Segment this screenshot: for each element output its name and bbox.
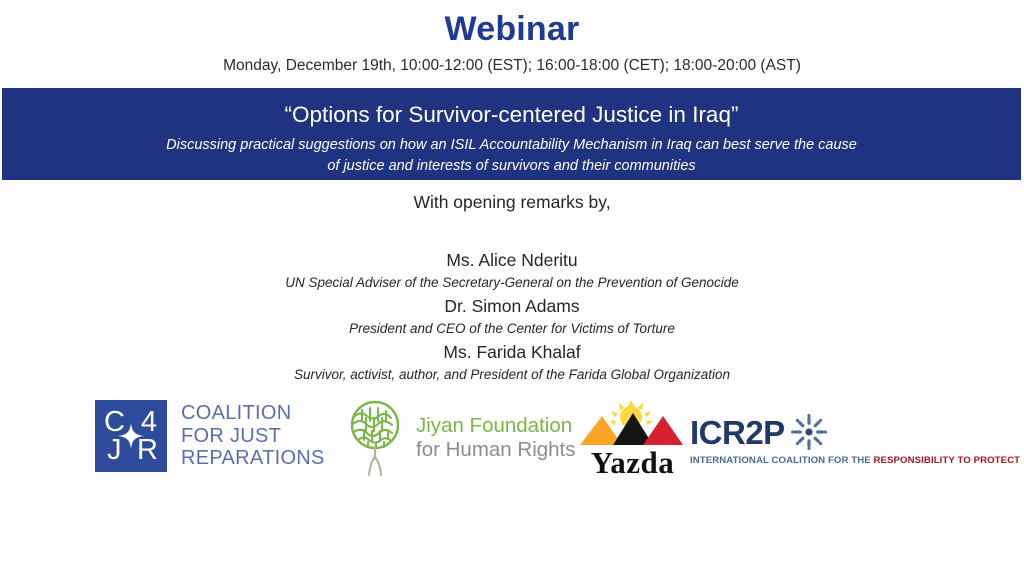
header: Webinar Monday, December 19th, 10:00-12:… — [0, 0, 1024, 76]
jiyan-wordmark-line-2: for Human Rights — [416, 438, 576, 462]
webinar-flyer: Webinar Monday, December 19th, 10:00-12:… — [0, 0, 1024, 576]
mountain-right — [643, 416, 683, 445]
page-title: Webinar — [0, 10, 1024, 49]
speaker-item: Dr. Simon Adams President and CEO of the… — [0, 295, 1024, 338]
speaker-item: Ms. Farida Khalaf Survivor, activist, au… — [0, 341, 1024, 384]
event-banner: “Options for Survivor-centered Justice i… — [2, 88, 1021, 180]
speaker-name: Dr. Simon Adams — [0, 295, 1024, 319]
opening-remarks-label: With opening remarks by, — [0, 192, 1024, 213]
c4jr-wordmark: COALITION FOR JUST REPARATIONS — [181, 402, 325, 469]
speaker-name: Ms. Alice Nderitu — [0, 249, 1024, 273]
speaker-role: Survivor, activist, author, and Presiden… — [0, 365, 1024, 385]
event-subtitle: Discussing practical suggestions on how … — [2, 135, 1021, 177]
event-title: “Options for Survivor-centered Justice i… — [2, 101, 1021, 129]
event-subtitle-line-1: Discussing practical suggestions on how … — [72, 135, 951, 156]
icr2p-wordmark: ICR2P — [690, 416, 785, 449]
logo-jiyan-foundation: Jiyan Foundation for Human Rights — [340, 398, 576, 478]
yazda-wordmark: Yazda — [575, 447, 690, 478]
jiyan-wordmark-line-1: Jiyan Foundation — [416, 414, 576, 438]
sun-and-mountains-icon — [575, 400, 687, 446]
mountain-left — [580, 416, 622, 445]
speaker-item: Ms. Alice Nderitu UN Special Adviser of … — [0, 249, 1024, 292]
four-pointed-star-icon — [118, 423, 144, 449]
logo-c4jr: C 4 J R COALITION FOR JUST REPARATIONS — [95, 400, 325, 472]
jiyan-wordmark: Jiyan Foundation for Human Rights — [416, 414, 576, 462]
webinar-datetime: Monday, December 19th, 10:00-12:00 (EST)… — [0, 57, 1024, 76]
speakers-section: With opening remarks by, Ms. Alice Nderi… — [0, 192, 1024, 388]
speaker-list: Ms. Alice Nderitu UN Special Adviser of … — [0, 249, 1024, 385]
icr2p-top-row: ICR2P — [690, 412, 1020, 452]
speaker-name: Ms. Farida Khalaf — [0, 341, 1024, 365]
speaker-role: UN Special Adviser of the Secretary-Gene… — [0, 273, 1024, 293]
calligraphy-tree-icon — [340, 398, 410, 478]
logo-icr2p: ICR2P — [690, 412, 1020, 466]
speaker-role: President and CEO of the Center for Vict… — [0, 319, 1024, 339]
icr2p-subtitle-red: RESPONSIBILITY TO PROTECT — [874, 455, 1021, 466]
event-subtitle-line-2: of justice and interests of survivors an… — [72, 156, 951, 177]
c4jr-wordmark-line-3: REPARATIONS — [181, 447, 325, 469]
logo-yazda: Yazda — [575, 400, 690, 478]
snowflake-starburst-icon — [789, 412, 829, 452]
partner-logos: C 4 J R COALITION FOR JUST REPARATIONS — [0, 392, 1024, 492]
c4jr-wordmark-line-2: FOR JUST — [181, 425, 325, 447]
c4jr-mark: C 4 J R — [95, 400, 167, 472]
c4jr-wordmark-line-1: COALITION — [181, 402, 325, 424]
icr2p-subtitle-blue: INTERNATIONAL COALITION FOR THE — [690, 455, 871, 466]
icr2p-subtitle: INTERNATIONAL COALITION FOR THE RESPONSI… — [690, 455, 1020, 466]
